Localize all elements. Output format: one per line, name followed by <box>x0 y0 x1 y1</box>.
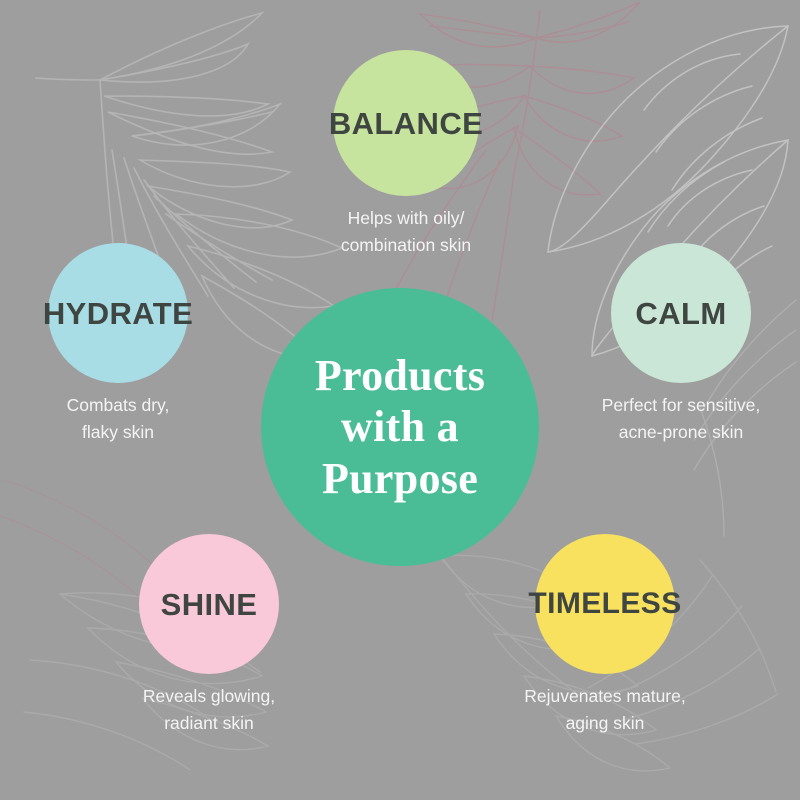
benefit-node-balance[interactable]: BALANCE Helps with oily/ combination ski… <box>276 50 536 258</box>
infographic-canvas: Products with a Purpose BALANCE Helps wi… <box>0 0 800 800</box>
benefit-circle-balance[interactable]: BALANCE <box>333 50 479 196</box>
benefit-label-balance: BALANCE <box>329 108 483 139</box>
benefit-label-hydrate: HYDRATE <box>43 298 193 329</box>
benefit-node-hydrate[interactable]: HYDRATE Combats dry, flaky skin <box>0 243 248 445</box>
benefit-caption-calm: Perfect for sensitive, acne-prone skin <box>602 392 761 445</box>
benefit-circle-timeless[interactable]: TIMELESS <box>535 534 675 674</box>
benefit-caption-balance: Helps with oily/ combination skin <box>341 205 471 258</box>
benefit-node-shine[interactable]: SHINE Reveals glowing, radiant skin <box>79 534 339 736</box>
benefit-circle-hydrate[interactable]: HYDRATE <box>48 243 188 383</box>
benefit-label-timeless: TIMELESS <box>528 589 681 619</box>
benefit-caption-timeless: Rejuvenates mature, aging skin <box>524 683 685 736</box>
benefit-label-shine: SHINE <box>161 589 258 620</box>
hub-circle[interactable]: Products with a Purpose <box>261 288 539 566</box>
benefit-circle-calm[interactable]: CALM <box>611 243 751 383</box>
benefit-label-calm: CALM <box>635 298 726 329</box>
benefit-node-calm[interactable]: CALM Perfect for sensitive, acne-prone s… <box>551 243 800 445</box>
benefit-circle-shine[interactable]: SHINE <box>139 534 279 674</box>
benefit-caption-hydrate: Combats dry, flaky skin <box>67 392 170 445</box>
benefit-caption-shine: Reveals glowing, radiant skin <box>143 683 275 736</box>
benefit-node-timeless[interactable]: TIMELESS Rejuvenates mature, aging skin <box>475 534 735 736</box>
hub-title: Products with a Purpose <box>285 350 515 503</box>
